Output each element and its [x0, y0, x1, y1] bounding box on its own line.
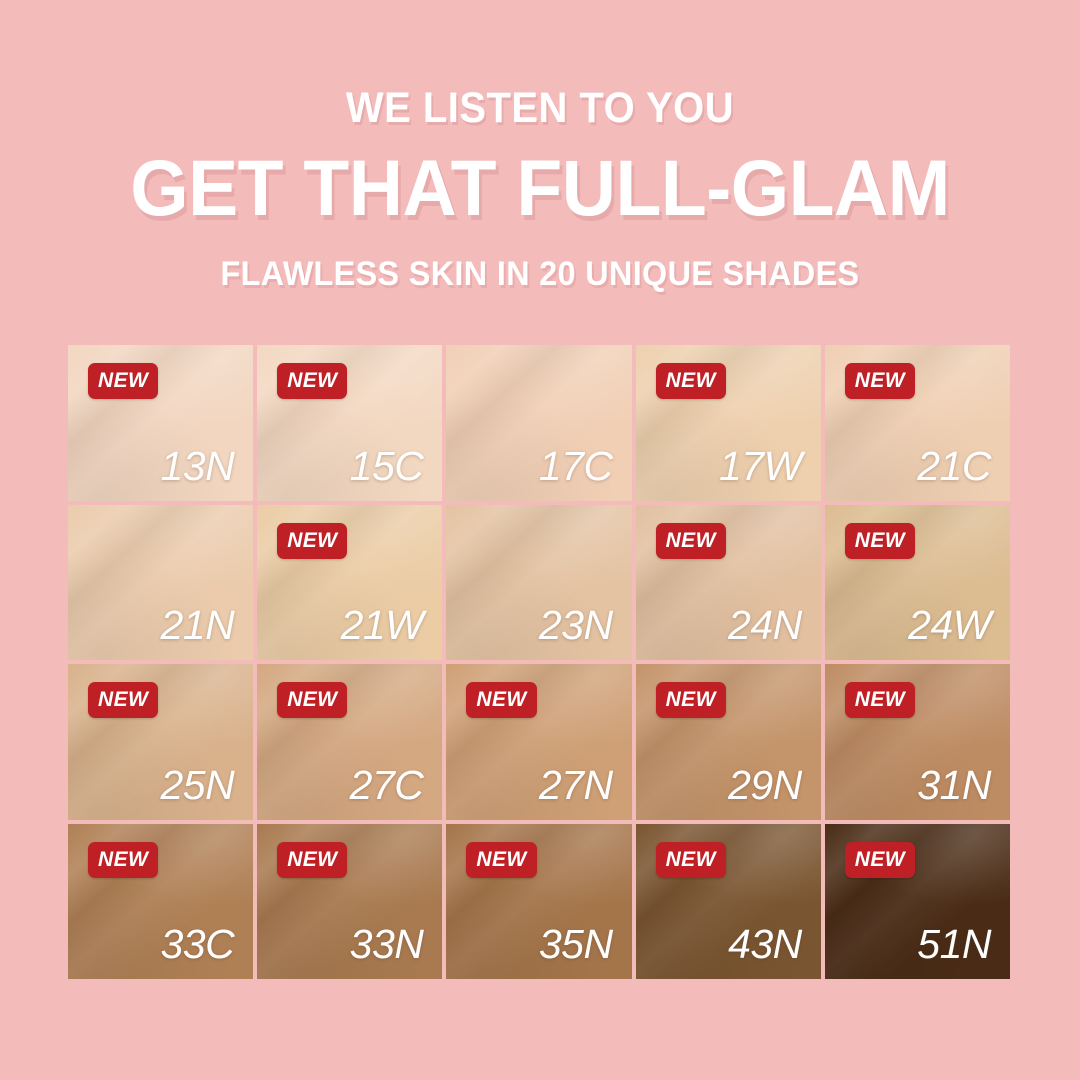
shade-label: 24W — [908, 605, 991, 646]
shade-swatch[interactable]: NEW17C — [446, 345, 631, 501]
shade-label: 17C — [539, 446, 613, 487]
shade-swatch[interactable]: NEW24N — [636, 505, 821, 661]
shade-swatch[interactable]: NEW27C — [257, 664, 442, 820]
new-badge: NEW — [466, 682, 536, 718]
new-badge: NEW — [845, 523, 915, 559]
headline-subhead: FLAWLESS SKIN IN 20 UNIQUE SHADES — [27, 256, 1053, 293]
new-badge: NEW — [656, 682, 726, 718]
new-badge: NEW — [277, 363, 347, 399]
new-badge: NEW — [656, 842, 726, 878]
shade-swatch[interactable]: NEW24W — [825, 505, 1010, 661]
headline-block: WE LISTEN TO YOU GET THAT FULL-GLAM FLAW… — [0, 0, 1080, 293]
shade-swatch[interactable]: NEW21W — [257, 505, 442, 661]
page-title: GET THAT FULL-GLAM — [27, 143, 1053, 234]
new-badge: NEW — [88, 363, 158, 399]
shade-label: 21W — [341, 605, 424, 646]
shade-label: 24N — [728, 605, 802, 646]
shade-swatch[interactable]: NEW21C — [825, 345, 1010, 501]
shade-swatch[interactable]: NEW25N — [68, 664, 253, 820]
shade-grid: NEW13NNEW15CNEW17CNEW17WNEW21CNEW21NNEW2… — [68, 345, 1010, 979]
shade-swatch[interactable]: NEW21N — [68, 505, 253, 661]
shade-label: 51N — [917, 924, 991, 965]
shade-label: 13N — [160, 446, 234, 487]
shade-label: 25N — [160, 765, 234, 806]
shade-label: 17W — [719, 446, 802, 487]
new-badge: NEW — [466, 842, 536, 878]
new-badge: NEW — [845, 363, 915, 399]
shade-swatch[interactable]: NEW23N — [446, 505, 631, 661]
new-badge: NEW — [845, 842, 915, 878]
shade-swatch[interactable]: NEW15C — [257, 345, 442, 501]
shade-swatch[interactable]: NEW51N — [825, 824, 1010, 980]
shade-swatch[interactable]: NEW17W — [636, 345, 821, 501]
shade-swatch[interactable]: NEW35N — [446, 824, 631, 980]
shade-swatch[interactable]: NEW43N — [636, 824, 821, 980]
new-badge: NEW — [845, 682, 915, 718]
shade-swatch[interactable]: NEW33C — [68, 824, 253, 980]
shade-label: 31N — [917, 765, 991, 806]
shade-label: 27N — [539, 765, 613, 806]
shade-label: 27C — [350, 765, 424, 806]
new-badge: NEW — [277, 682, 347, 718]
promo-banner: WE LISTEN TO YOU GET THAT FULL-GLAM FLAW… — [0, 0, 1080, 1080]
shade-label: 29N — [728, 765, 802, 806]
shade-swatch[interactable]: NEW13N — [68, 345, 253, 501]
new-badge: NEW — [656, 363, 726, 399]
shade-label: 33C — [160, 924, 234, 965]
shade-swatch[interactable]: NEW33N — [257, 824, 442, 980]
shade-label: 23N — [539, 605, 613, 646]
shade-swatch[interactable]: NEW27N — [446, 664, 631, 820]
new-badge: NEW — [88, 682, 158, 718]
new-badge: NEW — [277, 523, 347, 559]
shade-label: 43N — [728, 924, 802, 965]
shade-label: 15C — [350, 446, 424, 487]
shade-label: 21C — [917, 446, 991, 487]
shade-grid-wrapper: NEW13NNEW15CNEW17CNEW17WNEW21CNEW21NNEW2… — [68, 345, 1010, 979]
new-badge: NEW — [88, 842, 158, 878]
new-badge: NEW — [277, 842, 347, 878]
shade-swatch[interactable]: NEW29N — [636, 664, 821, 820]
headline-eyebrow: WE LISTEN TO YOU — [38, 86, 1042, 131]
shade-label: 21N — [160, 605, 234, 646]
shade-label: 35N — [539, 924, 613, 965]
shade-swatch[interactable]: NEW31N — [825, 664, 1010, 820]
shade-label: 33N — [350, 924, 424, 965]
new-badge: NEW — [656, 523, 726, 559]
